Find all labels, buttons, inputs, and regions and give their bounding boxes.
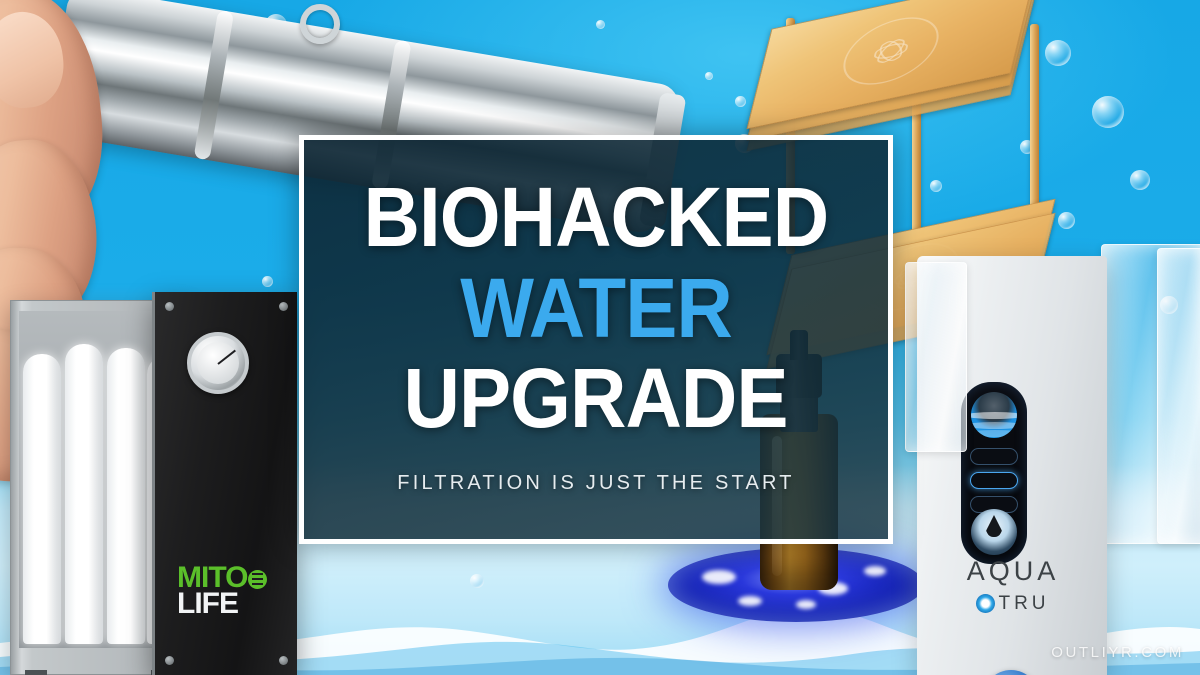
- title-line-1: BIOHACKED: [364, 178, 829, 257]
- title-line-3: UPGRADE: [404, 359, 788, 438]
- aquatru-logo: AQUA TRU: [945, 558, 1081, 613]
- tank-side-panel: [1157, 248, 1200, 544]
- control-panel[interactable]: [961, 382, 1027, 564]
- filter-status-indicator-1[interactable]: [970, 448, 1018, 465]
- droplet-icon[interactable]: [971, 509, 1017, 555]
- flower-of-life-icon: [836, 9, 946, 93]
- bubble: [262, 276, 273, 287]
- filter-cartridge: [65, 344, 103, 644]
- bubble: [1092, 96, 1124, 128]
- title-line-2: WATER: [460, 269, 732, 348]
- water-wave-icon[interactable]: [971, 392, 1017, 438]
- mito-life-logo: MITO LIFE: [177, 565, 267, 617]
- watermark: OUTLIYR.COM: [1051, 644, 1184, 661]
- gauge-face: [197, 342, 239, 384]
- bubble: [596, 20, 605, 29]
- thumbnail-canvas: MITO LIFE: [0, 0, 1200, 675]
- filter-cartridge: [23, 354, 61, 644]
- bubble: [705, 72, 713, 80]
- thumbnail-shape: [0, 8, 68, 112]
- aquatru-brand-line1: AQUA: [945, 558, 1081, 585]
- pressure-gauge-icon: [187, 332, 249, 394]
- title-subtitle: FILTRATION IS JUST THE START: [397, 472, 794, 495]
- mito-life-filter-unit: MITO LIFE: [152, 292, 297, 675]
- filter-cartridge: [107, 348, 145, 644]
- mito-brand-line2: LIFE: [177, 591, 267, 617]
- source-water-tank: [905, 262, 967, 452]
- title-card: BIOHACKED WATER UPGRADE FILTRATION IS JU…: [299, 135, 893, 544]
- mitochondria-icon: [248, 570, 267, 589]
- bubble: [470, 574, 484, 588]
- aquatru-ring-icon: [976, 594, 995, 613]
- aquatru-purifier: AQUA TRU: [905, 238, 1200, 675]
- bubble: [1130, 170, 1150, 190]
- filter-status-indicator-2[interactable]: [970, 472, 1018, 489]
- aquatru-brand-line2: TRU: [998, 593, 1049, 614]
